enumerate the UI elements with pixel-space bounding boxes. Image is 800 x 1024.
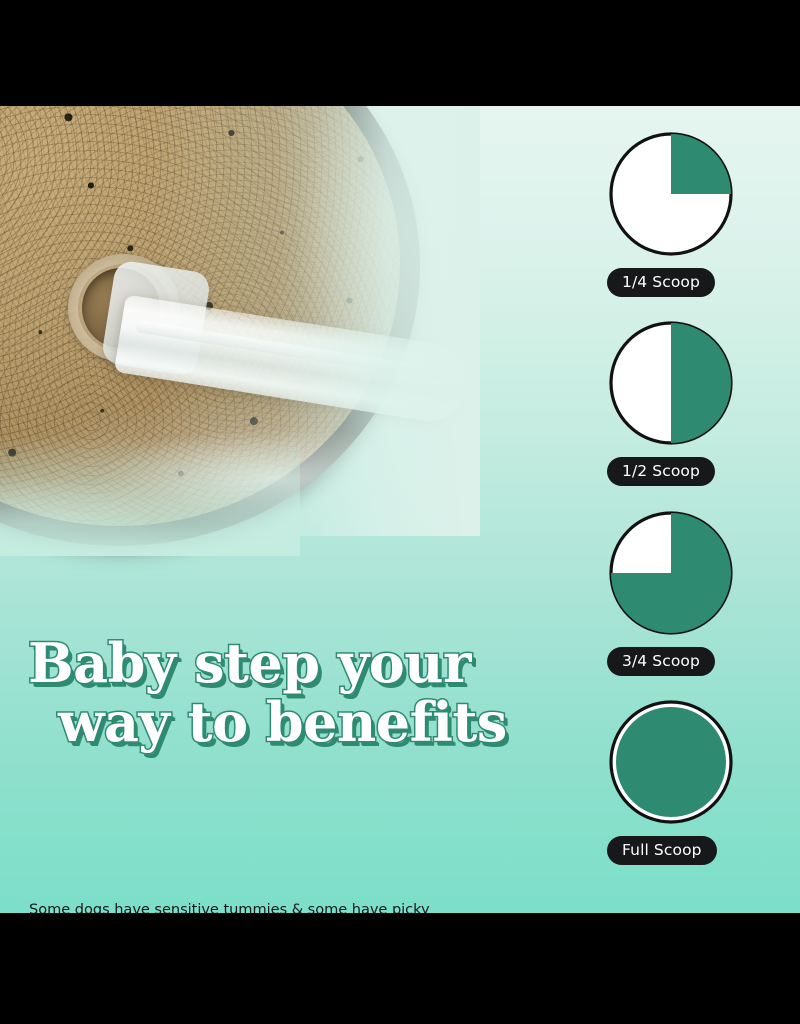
full-scoop-label: Full Scoop xyxy=(607,836,717,865)
promo-stage: Baby step your way to benefits Some dogs… xyxy=(0,106,800,913)
body-paragraph: Some dogs have sensitive tummies & some … xyxy=(29,899,449,913)
headline: Baby step your way to benefits xyxy=(28,636,498,750)
scoop-step-quarter: 1/4 Scoop xyxy=(560,130,800,297)
half-scoop-dial xyxy=(607,319,735,447)
scoop-step-half: 1/2 Scoop xyxy=(560,319,800,486)
headline-line-1: Baby step your xyxy=(28,636,498,691)
scoop-step-full: Full Scoop xyxy=(560,698,800,865)
full-scoop-dial xyxy=(607,698,735,826)
headline-line-2: way to benefits xyxy=(28,695,498,750)
three-quarter-scoop-label: 3/4 Scoop xyxy=(607,647,715,676)
three-quarter-scoop-dial xyxy=(607,509,735,637)
product-photo xyxy=(0,106,480,536)
pie-half-icon xyxy=(607,319,735,447)
half-scoop-label: 1/2 Scoop xyxy=(607,457,715,486)
letterbox-bar-top xyxy=(0,0,800,106)
quarter-scoop-label: 1/4 Scoop xyxy=(607,268,715,297)
pie-full-icon xyxy=(607,698,735,826)
pie-quarter-icon xyxy=(607,130,735,258)
letterbox-bar-bottom xyxy=(0,913,800,1024)
pie-three-quarter-icon xyxy=(607,509,735,637)
scoop-scale: 1/4 Scoop 1/2 Scoop 3/ xyxy=(560,106,800,913)
scoop-step-three-quarter: 3/4 Scoop xyxy=(560,509,800,676)
promo-graphic-canvas: Baby step your way to benefits Some dogs… xyxy=(0,0,800,1024)
quarter-scoop-dial xyxy=(607,130,735,258)
